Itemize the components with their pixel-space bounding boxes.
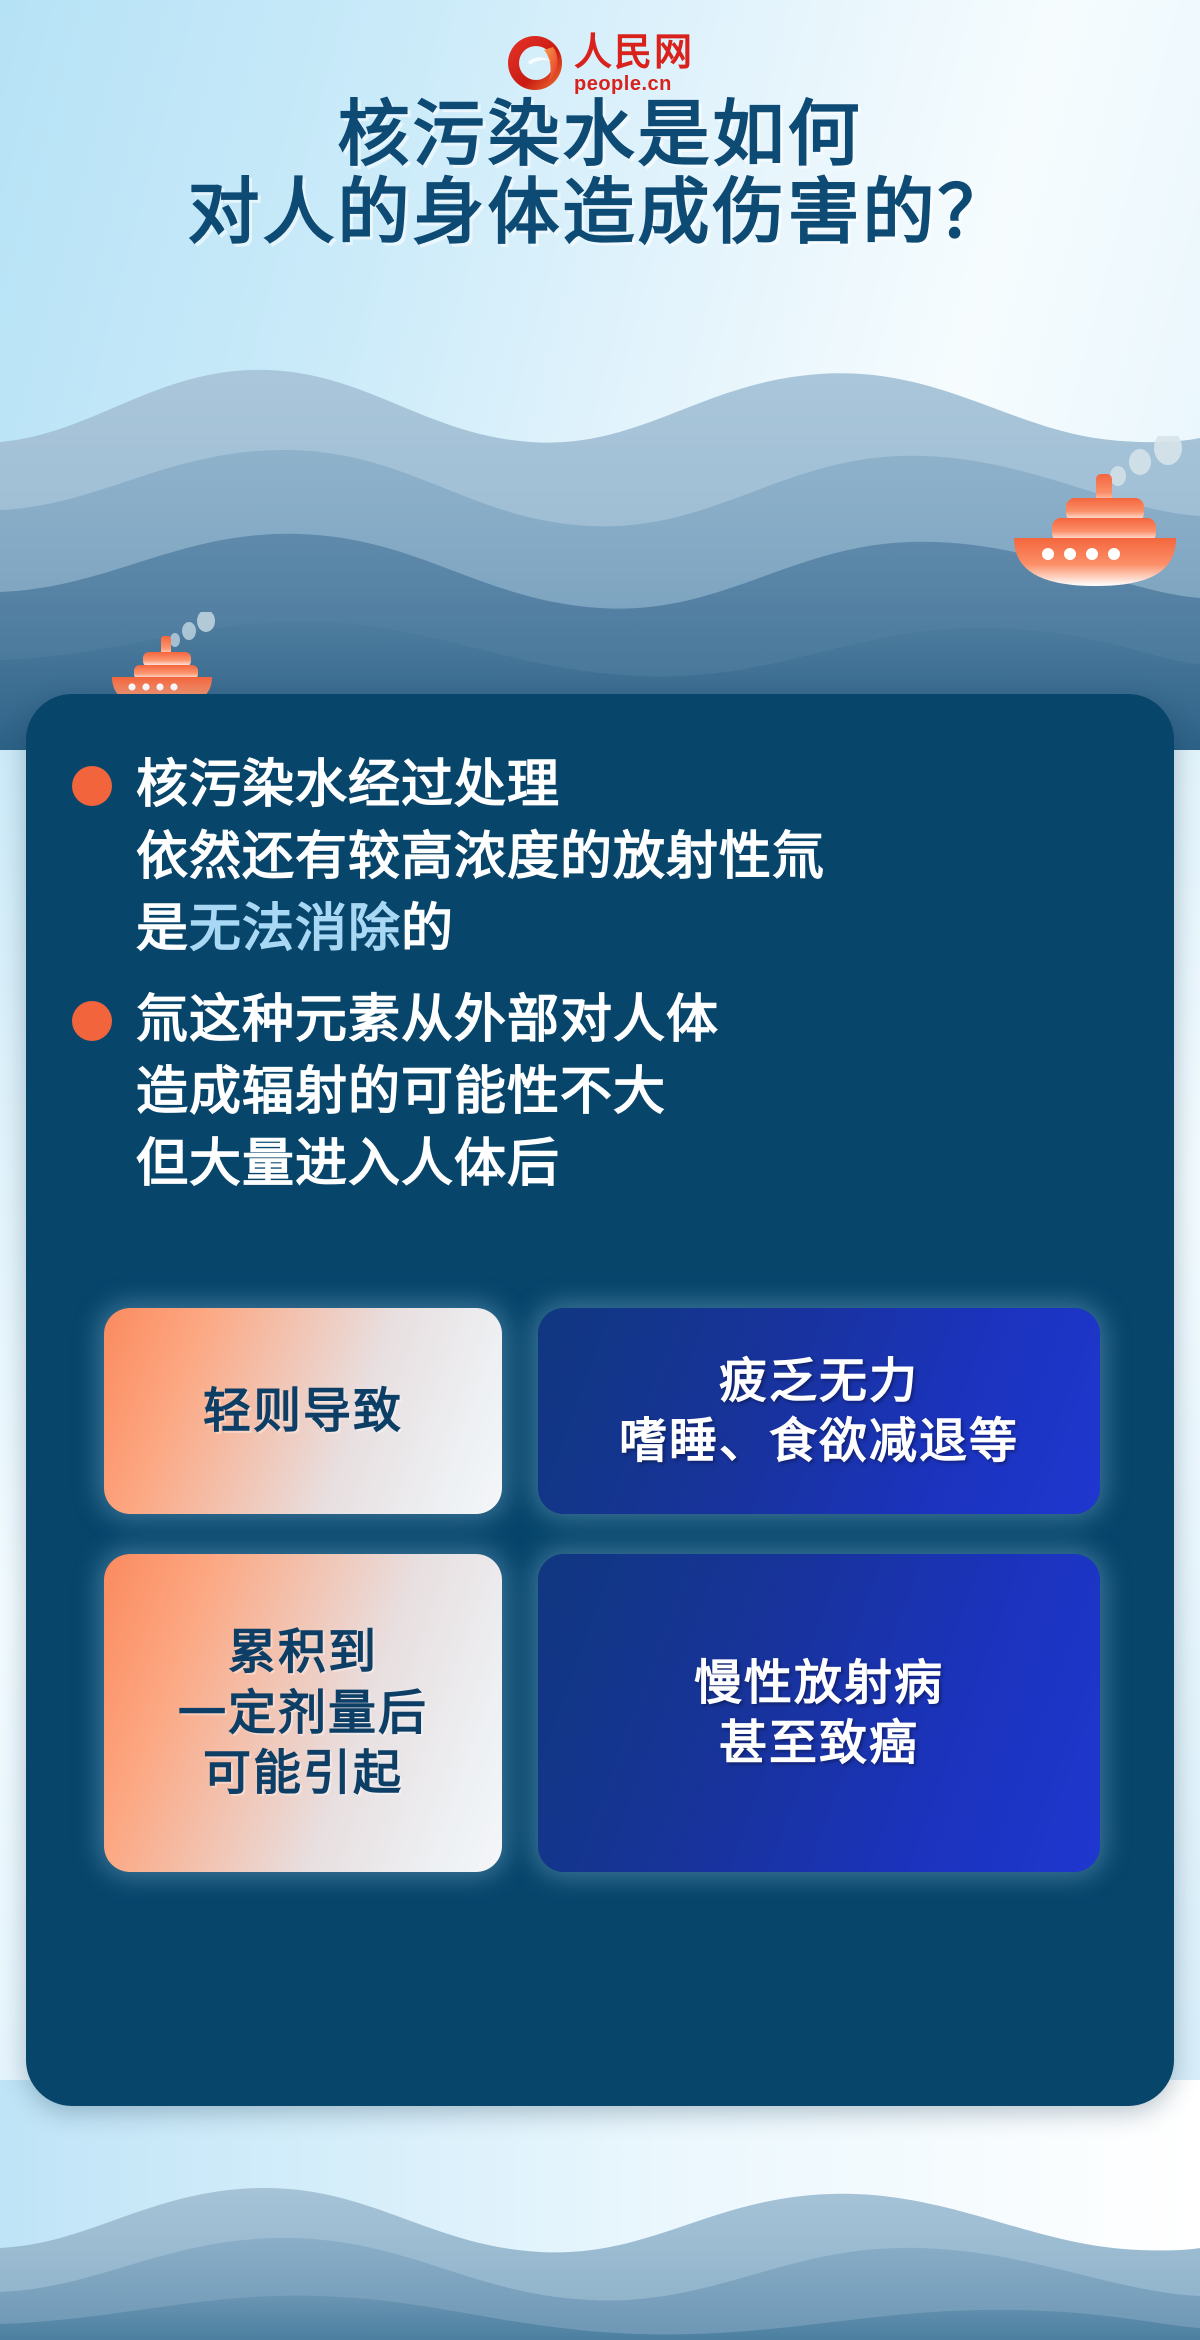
bullet-line: 核污染水经过处理 [136, 750, 1134, 822]
card-line: 疲乏无力 [719, 1351, 919, 1411]
brand-name-cn: 人民网 [574, 33, 694, 71]
bullet-item: 核污染水经过处理 依然还有较高浓度的放射性氚 是无法消除的 [64, 750, 1134, 965]
page-title-line-1: 核污染水是如何 [0, 96, 1200, 174]
bullet-line: 氚这种元素从外部对人体 [136, 985, 1134, 1057]
card-row-mild: 轻则导致 疲乏无力 嗜睡、食欲减退等 [104, 1308, 1100, 1514]
card-line: 嗜睡、食欲减退等 [619, 1411, 1019, 1471]
bullet-line: 是无法消除的 [136, 894, 1134, 966]
bullet-dot-icon [72, 1001, 112, 1041]
card-mild-label: 轻则导致 [104, 1308, 502, 1514]
people-cn-logo-icon [506, 34, 564, 92]
bullet-list: 核污染水经过处理 依然还有较高浓度的放射性氚 是无法消除的 氚这种元素从外部对人… [64, 750, 1134, 1221]
card-mild-symptoms: 疲乏无力 嗜睡、食欲减退等 [538, 1308, 1100, 1514]
ship-top-right-icon [1000, 436, 1190, 586]
bullet-text-plain: 的 [401, 899, 454, 959]
card-line: 轻则导致 [203, 1381, 403, 1441]
card-severe-label: 累积到 一定剂量后 可能引起 [104, 1554, 502, 1872]
bottom-wave-decoration [0, 2080, 1200, 2340]
bullet-line: 但大量进入人体后 [136, 1129, 1134, 1201]
page-title-line-2: 对人的身体造成伤害的？ [0, 174, 1200, 252]
card-line: 累积到 [228, 1622, 378, 1682]
poster-root: 人民网 people.cn 核污染水是如何 对人的身体造成伤害的？ 核污染水经过… [0, 0, 1200, 2340]
content-panel: 核污染水经过处理 依然还有较高浓度的放射性氚 是无法消除的 氚这种元素从外部对人… [26, 694, 1174, 2106]
bullet-dot-icon [72, 766, 112, 806]
brand-logo: 人民网 people.cn [0, 28, 1200, 98]
bullet-text-highlight: 无法消除 [189, 899, 401, 959]
card-line: 一定剂量后 [178, 1683, 428, 1743]
bullet-text-plain: 是 [136, 899, 189, 959]
card-line: 甚至致癌 [719, 1713, 919, 1773]
card-severe-symptoms: 慢性放射病 甚至致癌 [538, 1554, 1100, 1872]
brand-name-en: people.cn [574, 74, 672, 94]
page-title: 核污染水是如何 对人的身体造成伤害的？ [0, 96, 1200, 252]
card-line: 慢性放射病 [694, 1653, 944, 1713]
card-line: 可能引起 [203, 1743, 403, 1803]
card-row-severe: 累积到 一定剂量后 可能引起 慢性放射病 甚至致癌 [104, 1554, 1100, 1872]
bullet-item: 氚这种元素从外部对人体 造成辐射的可能性不大 但大量进入人体后 [64, 985, 1134, 1200]
effect-cards-grid: 轻则导致 疲乏无力 嗜睡、食欲减退等 累积到 一定剂量后 可能引起 慢性放射病 … [104, 1308, 1100, 1912]
bullet-line: 造成辐射的可能性不大 [136, 1057, 1134, 1129]
bullet-line: 依然还有较高浓度的放射性氚 [136, 822, 1134, 894]
